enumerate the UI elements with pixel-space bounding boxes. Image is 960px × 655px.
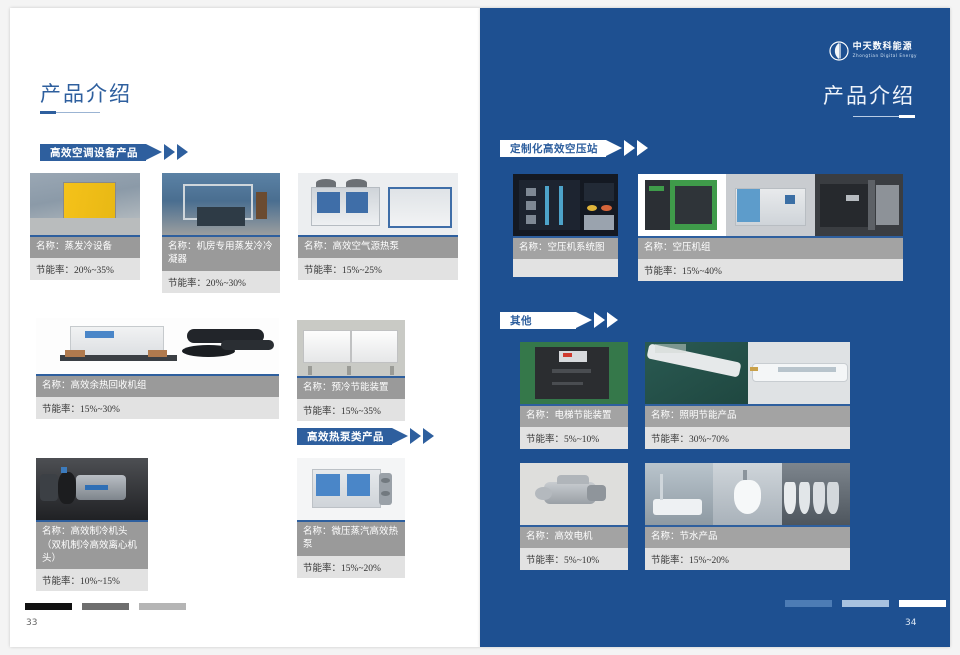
section-label: 高效热泵类产品 — [297, 428, 392, 445]
product-rate: 节能率：20%~35% — [30, 258, 140, 280]
brand-logo: 中天数科能源 Zhongtian Digital Energy — [829, 41, 917, 61]
arrow-tip-icon — [576, 312, 592, 328]
brand-name-cn: 中天数科能源 — [853, 43, 917, 52]
footer-bar — [25, 603, 72, 610]
product-photo — [297, 458, 405, 520]
section-banner-other: 其他 — [500, 312, 618, 329]
section-label: 定制化高效空压站 — [500, 140, 606, 157]
photo-urinal-row — [782, 463, 850, 525]
logo-mark-icon — [829, 41, 849, 61]
product-card: 名称：空压机组 节能率：15%~40% — [638, 174, 903, 281]
product-name: 名称：高效空气源热泵 — [298, 237, 458, 258]
photo-led-tube-closeup — [748, 342, 851, 404]
product-name: 名称：高效余热回收机组 — [36, 376, 279, 397]
photo-compressor-green — [638, 174, 726, 236]
chevron-right-icon — [423, 428, 434, 444]
photo-urinal — [713, 463, 781, 525]
page-title-right: 产品介绍 — [823, 80, 915, 110]
product-card: 名称：照明节能产品 节能率：30%~70% — [645, 342, 850, 449]
product-name: 名称：机房专用蒸发冷冷凝器 — [162, 237, 280, 271]
product-photo — [36, 318, 279, 374]
product-rate: 节能率：15%~20% — [297, 556, 405, 578]
chevron-right-icon — [594, 312, 605, 328]
arrow-tip-icon — [606, 140, 622, 156]
product-rate: 节能率：20%~30% — [162, 271, 280, 293]
section-banner-heatpump: 高效热泵类产品 — [297, 428, 434, 445]
product-name-line2: （双机制冷高效离心机头） — [36, 540, 148, 570]
product-photo — [520, 342, 628, 404]
chevron-right-icon — [177, 144, 188, 160]
product-name: 名称：预冷节能装置 — [297, 378, 405, 399]
section-label: 高效空调设备产品 — [40, 144, 146, 161]
product-rate: 节能率：15%~30% — [36, 397, 279, 419]
product-card: 名称：节水产品 节能率：15%~20% — [645, 463, 850, 570]
page-number-right: 34 — [905, 618, 916, 628]
section-label: 其他 — [500, 312, 576, 329]
right-page: 中天数科能源 Zhongtian Digital Energy 产品介绍 定制化… — [480, 8, 950, 647]
product-rate: 节能率：15%~35% — [297, 399, 405, 421]
product-rate: 节能率：5%~10% — [520, 427, 628, 449]
product-photo — [30, 173, 140, 235]
product-photo — [645, 342, 850, 404]
chevron-right-icon — [624, 140, 635, 156]
product-photo — [297, 320, 405, 376]
product-card: 名称：高效空气源热泵 节能率：15%~25% — [298, 173, 458, 280]
page-number-left: 33 — [26, 618, 37, 628]
product-photo — [520, 463, 628, 525]
product-rate: 节能率：15%~40% — [638, 259, 903, 281]
footer-bar — [785, 600, 832, 607]
product-card: 名称：高效余热回收机组 节能率：15%~30% — [36, 318, 279, 419]
product-card: 名称：电梯节能装置 节能率：5%~10% — [520, 342, 628, 449]
product-card: 名称：微压蒸汽高效热泵 节能率：15%~20% — [297, 458, 405, 578]
chevron-right-icon — [164, 144, 175, 160]
product-name: 名称：微压蒸汽高效热泵 — [297, 522, 405, 556]
left-page: 产品介绍 高效空调设备产品 名称：蒸发冷设备 节能率：20%~35% — [10, 8, 480, 647]
product-name: 名称：高效制冷机头 — [36, 522, 148, 540]
section-banner-compressor: 定制化高效空压站 — [500, 140, 648, 157]
page-title-left: 产品介绍 — [40, 78, 132, 108]
brand-name-en: Zhongtian Digital Energy — [853, 54, 917, 58]
title-underline-right — [853, 116, 915, 117]
footer-bar — [139, 603, 186, 610]
footer-bars-left — [25, 603, 186, 610]
brochure-spread: 产品介绍 高效空调设备产品 名称：蒸发冷设备 节能率：20%~35% — [0, 0, 960, 655]
footer-bars-right — [785, 600, 946, 607]
chevron-right-icon — [637, 140, 648, 156]
product-card: 名称：空压机系统图 — [513, 174, 618, 277]
product-card: 名称：机房专用蒸发冷冷凝器 节能率：20%~30% — [162, 173, 280, 293]
product-card: 名称：高效制冷机头 （双机制冷高效离心机头） 节能率：10%~15% — [36, 458, 148, 591]
product-name: 名称：空压机系统图 — [513, 238, 618, 259]
chevron-right-icon — [607, 312, 618, 328]
product-rate: 节能率：15%~25% — [298, 258, 458, 280]
product-name: 名称：高效电机 — [520, 527, 628, 548]
product-name: 名称：节水产品 — [645, 527, 850, 548]
section-banner-hvac: 高效空调设备产品 — [40, 144, 188, 161]
product-card: 名称：预冷节能装置 节能率：15%~35% — [297, 320, 405, 421]
product-photo — [513, 174, 618, 236]
arrow-tip-icon — [146, 144, 162, 160]
photo-sink — [645, 463, 713, 525]
arrow-tip-icon — [392, 428, 408, 444]
footer-bar — [842, 600, 889, 607]
photo-compressor-dark — [815, 174, 903, 236]
product-photo — [36, 458, 148, 520]
chevron-right-icon — [410, 428, 421, 444]
footer-bar — [82, 603, 129, 610]
product-photo — [645, 463, 850, 525]
product-card: 名称：高效电机 节能率：5%~10% — [520, 463, 628, 570]
product-name: 名称：电梯节能装置 — [520, 406, 628, 427]
product-name: 名称：空压机组 — [638, 238, 903, 259]
product-rate: 节能率：15%~20% — [645, 548, 850, 570]
photo-led-tube — [645, 342, 748, 404]
product-rate: 节能率：30%~70% — [645, 427, 850, 449]
footer-bar — [899, 600, 946, 607]
product-rate: 节能率：5%~10% — [520, 548, 628, 570]
product-card: 名称：蒸发冷设备 节能率：20%~35% — [30, 173, 140, 280]
product-photo — [298, 173, 458, 235]
product-name: 名称：蒸发冷设备 — [30, 237, 140, 258]
product-photo — [638, 174, 903, 236]
product-photo — [162, 173, 280, 235]
photo-compressor-blue — [726, 174, 814, 236]
product-rate — [513, 259, 618, 277]
title-underline-left — [40, 112, 100, 113]
product-rate: 节能率：10%~15% — [36, 569, 148, 591]
product-name: 名称：照明节能产品 — [645, 406, 850, 427]
brand-text: 中天数科能源 Zhongtian Digital Energy — [853, 43, 917, 58]
